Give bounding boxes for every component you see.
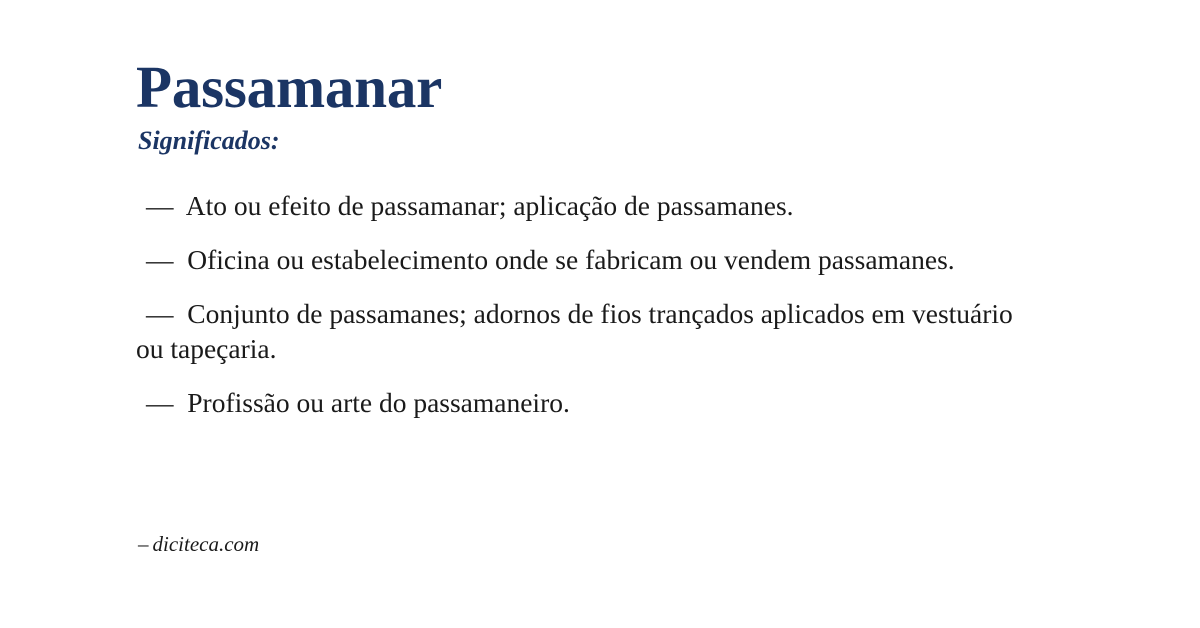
source-attribution: –diciteca.com bbox=[138, 532, 259, 557]
definition-text: Oficina ou estabelecimento onde se fabri… bbox=[187, 244, 954, 275]
em-dash-marker: — bbox=[146, 298, 180, 329]
definition-item: — Profissão ou arte do passamaneiro. bbox=[136, 385, 1026, 420]
page-title: Passamanar bbox=[136, 58, 1050, 117]
source-name: diciteca.com bbox=[153, 532, 260, 556]
em-dash-marker: — bbox=[146, 387, 180, 418]
definition-text: Profissão ou arte do passamaneiro. bbox=[187, 387, 570, 418]
definition-item: — Conjunto de passamanes; adornos de fio… bbox=[136, 296, 1026, 366]
en-dash-marker: – bbox=[138, 532, 149, 556]
definition-text: Ato ou efeito de passamanar; aplicação d… bbox=[186, 190, 794, 221]
section-label-significados: Significados: bbox=[138, 127, 1050, 156]
definition-item: — Oficina ou estabelecimento onde se fab… bbox=[136, 242, 1026, 277]
em-dash-marker: — bbox=[146, 190, 180, 221]
definition-item: — Ato ou efeito de passamanar; aplicação… bbox=[136, 188, 1026, 223]
dictionary-entry-card: Passamanar Significados: — Ato ou efeito… bbox=[0, 0, 1200, 628]
definition-list: — Ato ou efeito de passamanar; aplicação… bbox=[136, 188, 1050, 420]
definition-text: Conjunto de passamanes; adornos de fios … bbox=[136, 298, 1013, 364]
em-dash-marker: — bbox=[146, 244, 180, 275]
